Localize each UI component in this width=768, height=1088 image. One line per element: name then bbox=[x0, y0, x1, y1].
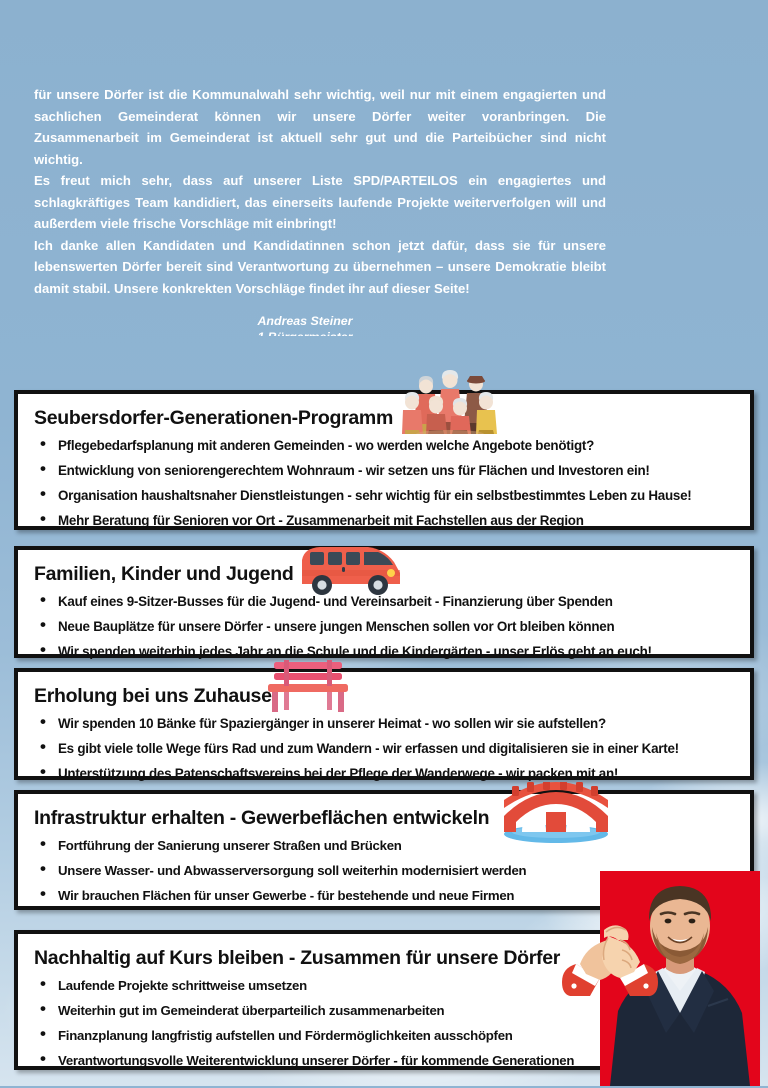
section-bullets: Wir spenden 10 Bänke für Spaziergänger i… bbox=[34, 716, 740, 782]
list-item: Unterstützung des Patenschaftsvereins be… bbox=[34, 766, 740, 782]
list-item: Neue Bauplätze für unsere Dörfer - unser… bbox=[34, 619, 740, 635]
list-item: Organisation haushaltsnaher Dienstleistu… bbox=[34, 488, 740, 504]
list-item: Fortführung der Sanierung unserer Straße… bbox=[34, 838, 740, 854]
letter-signature: Andreas Steiner 1.Bürgermeister bbox=[4, 313, 736, 340]
section-title: Familien, Kinder und Jugend bbox=[34, 563, 740, 586]
list-item: Es gibt viele tolle Wege fürs Rad und zu… bbox=[34, 741, 740, 757]
list-item: Wir spenden weiterhin jedes Jahr an die … bbox=[34, 644, 740, 660]
section-erholung: Erholung bei uns Zuhause Wir spenden 10 … bbox=[14, 668, 754, 780]
signature-name: Andreas Steiner bbox=[4, 313, 606, 329]
section-title: Infrastruktur erhalten - Gewerbeflächen … bbox=[34, 807, 740, 830]
letter-paragraph-1: für unsere Dörfer ist die Kommunalwahl s… bbox=[34, 84, 606, 170]
letter-paragraph-3: Ich danke allen Kandidaten und Kandidati… bbox=[34, 235, 606, 300]
section-title: Erholung bei uns Zuhause bbox=[34, 685, 740, 708]
list-item: Mehr Beratung für Senioren vor Ort - Zus… bbox=[34, 513, 740, 529]
section-title: Seubersdorfer-Generationen-Programm bbox=[34, 407, 740, 430]
list-item: Kauf eines 9-Sitzer-Busses für die Jugen… bbox=[34, 594, 740, 610]
list-item: Entwicklung von seniorengerechtem Wohnra… bbox=[34, 463, 740, 479]
list-item: Wir spenden 10 Bänke für Spaziergänger i… bbox=[34, 716, 740, 732]
section-bullets: Kauf eines 9-Sitzer-Busses für die Jugen… bbox=[34, 594, 740, 660]
letter-paragraph-2: Es freut mich sehr, dass auf unserer Lis… bbox=[34, 170, 606, 235]
section-familien: Familien, Kinder und Jugend Kauf eines 9… bbox=[14, 546, 754, 658]
list-item: Pflegebedarfsplanung mit anderen Gemeind… bbox=[34, 438, 740, 454]
letter-body: für unsere Dörfer ist die Kommunalwahl s… bbox=[4, 62, 736, 299]
section-generationen: Seubersdorfer-Generationen-Programm Pfle… bbox=[14, 390, 754, 530]
section-bullets: Pflegebedarfsplanung mit anderen Gemeind… bbox=[34, 438, 740, 529]
